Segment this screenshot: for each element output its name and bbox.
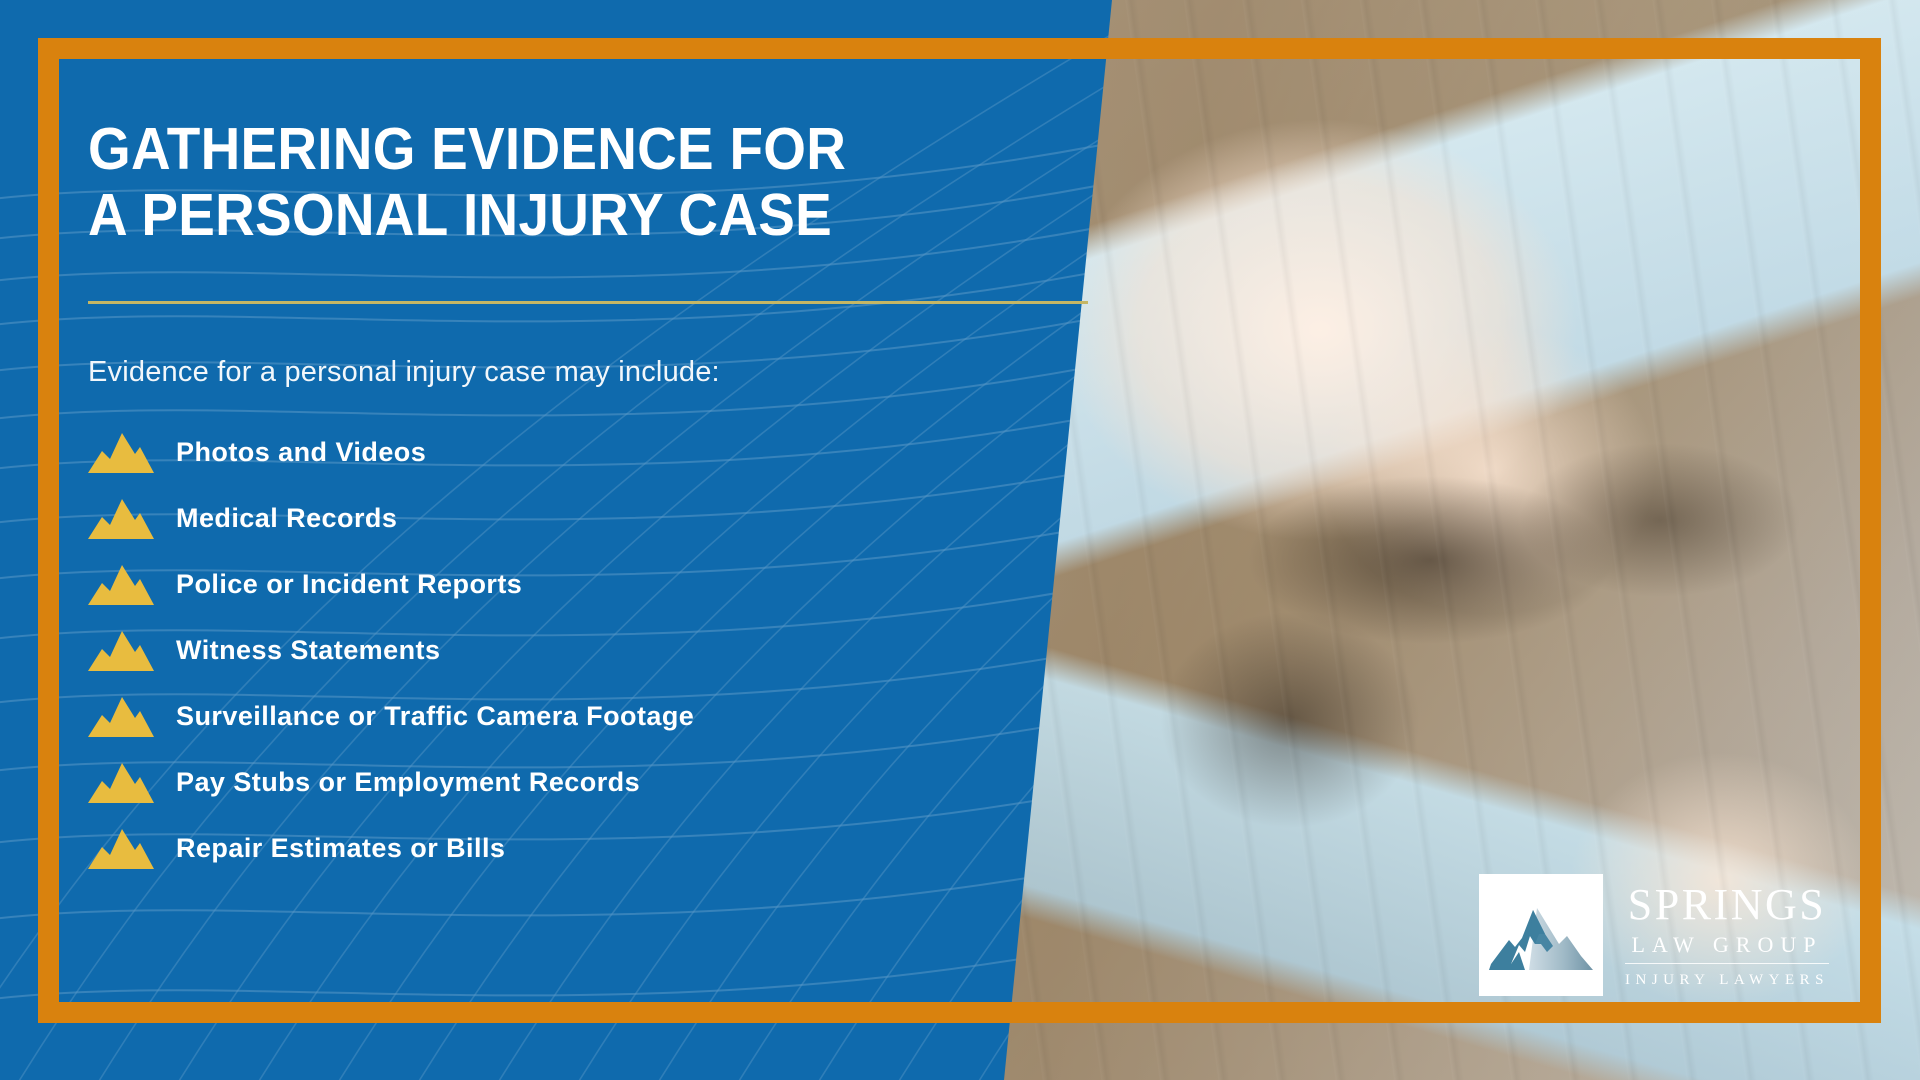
headline: GATHERING EVIDENCE FOR A PERSONAL INJURY… <box>88 116 953 248</box>
list-item-label: Medical Records <box>176 503 397 534</box>
list-item: Repair Estimates or Bills <box>88 815 1018 881</box>
mountain-icon <box>88 761 154 803</box>
list-item: Surveillance or Traffic Camera Footage <box>88 683 1018 749</box>
lead-paragraph: Evidence for a personal injury case may … <box>88 356 1018 389</box>
gold-divider-rule <box>88 301 1088 304</box>
list-item-label: Photos and Videos <box>176 437 426 468</box>
list-item: Witness Statements <box>88 617 1018 683</box>
brand-logo: SPRINGS LAW GROUP INJURY LAWYERS <box>1479 874 1829 996</box>
list-item-label: Witness Statements <box>176 635 440 666</box>
mountain-icon <box>88 827 154 869</box>
mountain-icon <box>88 497 154 539</box>
logo-subname: LAW GROUP <box>1625 934 1829 964</box>
logo-wordmark: SPRINGS LAW GROUP INJURY LAWYERS <box>1625 883 1829 988</box>
evidence-list: Photos and Videos Medical Records Police… <box>88 419 1018 881</box>
list-item-label: Police or Incident Reports <box>176 569 522 600</box>
list-item: Medical Records <box>88 485 1018 551</box>
infographic-canvas: GATHERING EVIDENCE FOR A PERSONAL INJURY… <box>0 0 1920 1080</box>
mountain-range-logo-icon <box>1489 900 1593 970</box>
list-item-label: Pay Stubs or Employment Records <box>176 767 640 798</box>
mountain-icon <box>88 431 154 473</box>
logo-mark-box <box>1479 874 1603 996</box>
list-item: Police or Incident Reports <box>88 551 1018 617</box>
mountain-icon <box>88 563 154 605</box>
logo-tagline: INJURY LAWYERS <box>1625 973 1829 988</box>
list-item: Photos and Videos <box>88 419 1018 485</box>
list-item-label: Repair Estimates or Bills <box>176 833 505 864</box>
list-item: Pay Stubs or Employment Records <box>88 749 1018 815</box>
logo-name: SPRINGS <box>1625 883 1829 927</box>
content-block: GATHERING EVIDENCE FOR A PERSONAL INJURY… <box>88 116 1018 881</box>
list-item-label: Surveillance or Traffic Camera Footage <box>176 701 694 732</box>
mountain-icon <box>88 629 154 671</box>
mountain-icon <box>88 695 154 737</box>
